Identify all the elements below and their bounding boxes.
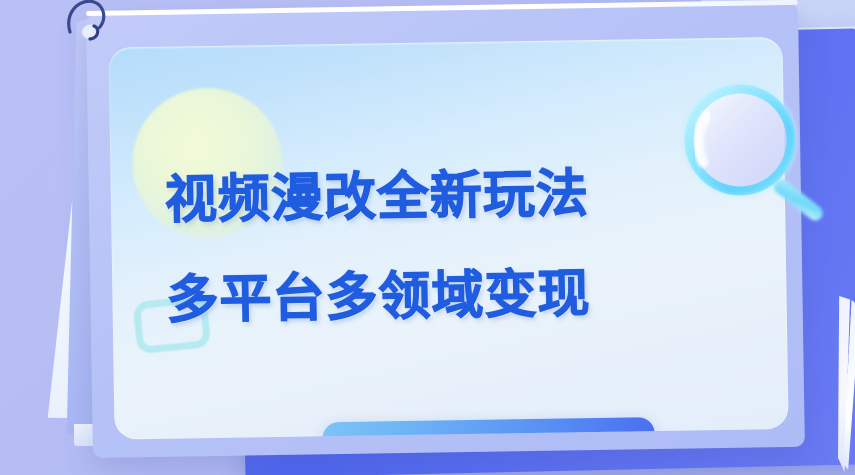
main-card: 视频漫改全新玩法 多平台多领域变现 单日轻松变现300 ＋ [86, 3, 805, 458]
poster-canvas: 视频漫改全新玩法 多平台多领域变现 单日轻松变现300 ＋ [0, 0, 855, 475]
card-inner-panel: 视频漫改全新玩法 多平台多领域变现 单日轻松变现300 ＋ [109, 37, 789, 440]
binder-ring-icon [64, 0, 110, 48]
headline-line-1: 视频漫改全新玩法 [165, 165, 766, 226]
headline-line-2: 多平台多领域变现 [166, 265, 767, 326]
headline-block: 视频漫改全新玩法 多平台多领域变现 [165, 165, 767, 326]
